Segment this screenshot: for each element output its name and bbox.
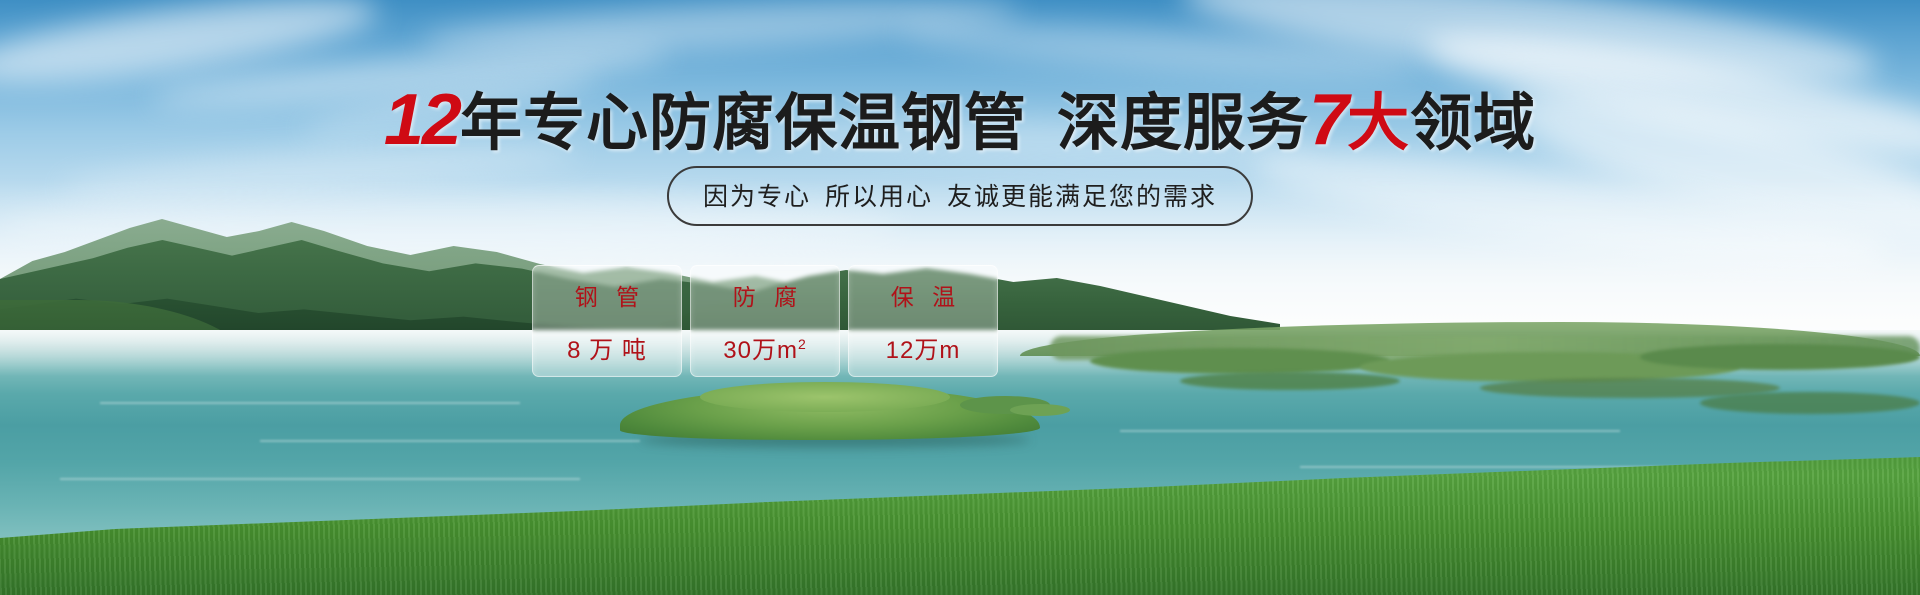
headline-years-number: 12 bbox=[384, 80, 460, 160]
headline-middle-text: 深度服务 bbox=[1057, 89, 1309, 158]
water-streak bbox=[100, 402, 520, 404]
page-title: 12年专心防腐保温钢管深度服务7大领域 bbox=[0, 84, 1920, 156]
marsh-patch bbox=[1640, 344, 1920, 370]
hero-banner: 12年专心防腐保温钢管深度服务7大领域 因为专心所以用心友诚更能满足您的需求 钢… bbox=[0, 0, 1920, 595]
stat-card-group: 钢 管 8 万 吨 防 腐 30万m2 保 温 12万m bbox=[532, 265, 998, 377]
grass-island-top bbox=[700, 382, 950, 412]
stat-card-value: 12万m bbox=[886, 330, 961, 365]
subtitle-part-1: 因为专心 bbox=[703, 183, 811, 211]
stat-value-text: 12万m bbox=[886, 337, 961, 364]
headline-main-text: 年专心防腐保温钢管 bbox=[460, 89, 1027, 158]
stat-card-label: 保 温 bbox=[885, 278, 961, 312]
stat-card-insulation[interactable]: 保 温 12万m bbox=[848, 265, 998, 377]
water-streak bbox=[1120, 430, 1620, 432]
stat-card-label: 钢 管 bbox=[569, 278, 645, 312]
stat-card-steel-pipe[interactable]: 钢 管 8 万 吨 bbox=[532, 265, 682, 377]
stat-value-text: 30万m bbox=[723, 337, 798, 364]
water-streak bbox=[60, 478, 580, 480]
stat-card-anticorrosion[interactable]: 防 腐 30万m2 bbox=[690, 265, 840, 377]
marsh-patch bbox=[1090, 348, 1390, 374]
headline-fields-suffix: 大 bbox=[1347, 89, 1410, 158]
stat-card-value: 30万m2 bbox=[723, 330, 806, 365]
water-streak bbox=[260, 440, 640, 442]
headline-fields-number: 7 bbox=[1309, 80, 1347, 160]
subtitle-part-3: 友诚更能满足您的需求 bbox=[947, 183, 1217, 211]
stat-card-label: 防 腐 bbox=[727, 278, 803, 312]
subtitle-badge: 因为专心所以用心友诚更能满足您的需求 bbox=[667, 166, 1253, 226]
small-islet bbox=[1010, 404, 1070, 416]
headline-tail-text: 领域 bbox=[1410, 89, 1536, 158]
stat-card-value: 8 万 吨 bbox=[567, 330, 647, 365]
stat-value-sup: 2 bbox=[798, 336, 807, 352]
subtitle-part-2: 所以用心 bbox=[825, 183, 933, 211]
stat-value-text: 8 万 吨 bbox=[567, 337, 647, 364]
marsh-patch bbox=[1700, 392, 1920, 414]
marsh-patch bbox=[1180, 372, 1400, 390]
